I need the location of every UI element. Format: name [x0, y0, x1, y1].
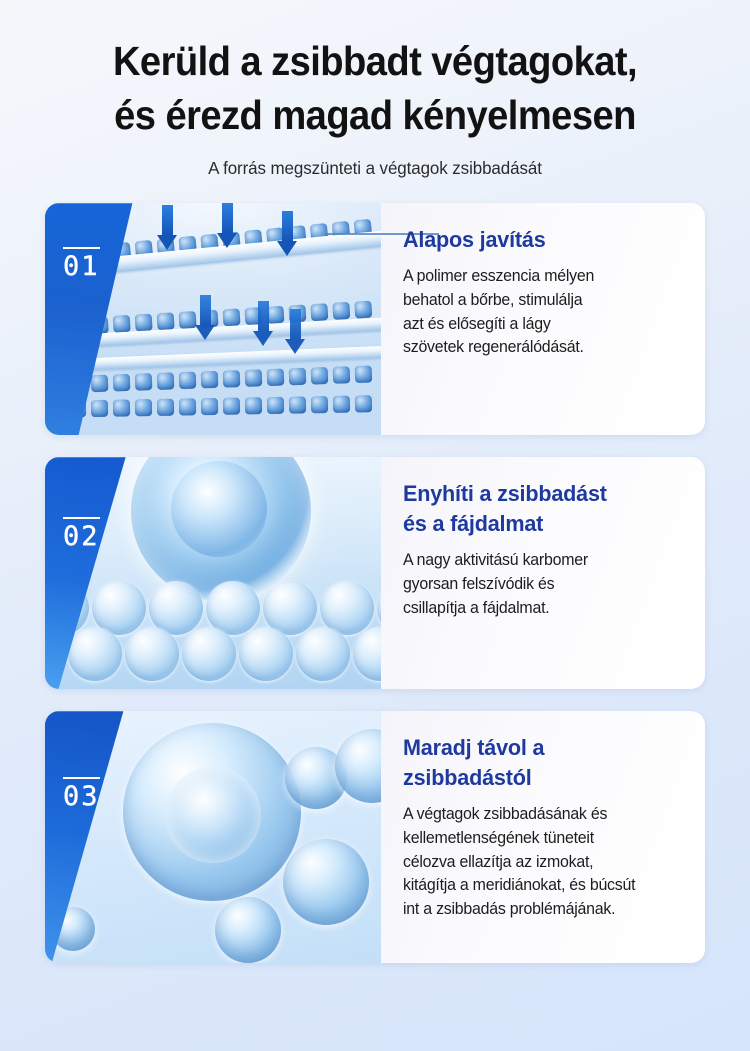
down-arrow-icon: [277, 211, 297, 256]
feature-image-03: 03: [45, 711, 381, 963]
step-number-02: 02: [63, 517, 100, 550]
feature-text-01: Alapos javítás A polimer esszencia mélye…: [381, 203, 705, 435]
down-arrow-icon: [195, 295, 215, 340]
feature-desc-03-line-1: A végtagok zsibbadásának és: [403, 803, 671, 827]
feature-desc-02: A nagy aktivitású karbomer gyorsan felsz…: [403, 549, 671, 620]
feature-desc-01: A polimer esszencia mélyen behatol a bőr…: [403, 265, 671, 360]
feature-text-03: Maradj távol a zsibbadástól A végtagok z…: [381, 711, 705, 963]
feature-card-list: 01 Alapos javítás A polimer esszencia mé…: [0, 203, 750, 963]
page-header: Kerüld a zsibbadt végtagokat, és érezd m…: [0, 0, 750, 179]
feature-desc-03-line-5: int a zsibbadás problémájának.: [403, 898, 671, 922]
page-title: Kerüld a zsibbadt végtagokat, és érezd m…: [26, 34, 724, 142]
down-arrow-icon: [157, 205, 177, 250]
feature-desc-01-line-1: A polimer esszencia mélyen: [403, 265, 671, 289]
feature-desc-02-line-3: csillapítja a fájdalmat.: [403, 597, 671, 621]
feature-title-01: Alapos javítás: [403, 225, 670, 255]
step-number-03: 03: [63, 777, 100, 810]
feature-card-03: 03 Maradj távol a zsibbadástól A végtago…: [45, 711, 705, 963]
feature-title-03: Maradj távol a zsibbadástól: [403, 733, 670, 793]
feature-desc-01-line-4: szövetek regenerálódását.: [403, 336, 671, 360]
feature-text-02: Enyhíti a zsibbadást és a fájdalmat A na…: [381, 457, 705, 689]
feature-desc-01-line-3: azt és elősegíti a lágy: [403, 313, 671, 337]
feature-title-02-line-1: Enyhíti a zsibbadást: [403, 479, 670, 509]
step-number-01: 01: [63, 247, 100, 280]
feature-card-02: 02 Enyhíti a zsibbadást és a fájdalmat A…: [45, 457, 705, 689]
down-arrow-icon: [285, 309, 305, 354]
feature-desc-02-line-2: gyorsan felszívódik és: [403, 573, 671, 597]
feature-desc-03-line-3: célozva ellazítja az izmokat,: [403, 851, 671, 875]
feature-desc-03-line-4: kitágítja a meridiánokat, és búcsút: [403, 874, 671, 898]
feature-card-01: 01 Alapos javítás A polimer esszencia mé…: [45, 203, 705, 435]
feature-title-03-line-2: zsibbadástól: [403, 763, 670, 793]
feature-title-01-line-1: Alapos javítás: [403, 225, 670, 255]
page-subtitle: A forrás megszünteti a végtagok zsibbadá…: [11, 158, 739, 179]
feature-title-02: Enyhíti a zsibbadást és a fájdalmat: [403, 479, 670, 539]
page-title-line-2: és érezd magad kényelmesen: [26, 88, 724, 142]
feature-title-03-line-1: Maradj távol a: [403, 733, 670, 763]
feature-desc-02-line-1: A nagy aktivitású karbomer: [403, 549, 671, 573]
feature-desc-03-line-2: kellemetlenségének tüneteit: [403, 827, 671, 851]
down-arrow-icon: [253, 301, 273, 346]
feature-desc-03: A végtagok zsibbadásának és kellemetlens…: [403, 803, 671, 922]
down-arrow-icon: [217, 203, 237, 248]
page-title-line-1: Kerüld a zsibbadt végtagokat,: [26, 34, 724, 88]
feature-image-01: 01: [45, 203, 381, 435]
feature-desc-01-line-2: behatol a bőrbe, stimulálja: [403, 289, 671, 313]
feature-image-02: 02: [45, 457, 381, 689]
feature-title-02-line-2: és a fájdalmat: [403, 509, 670, 539]
